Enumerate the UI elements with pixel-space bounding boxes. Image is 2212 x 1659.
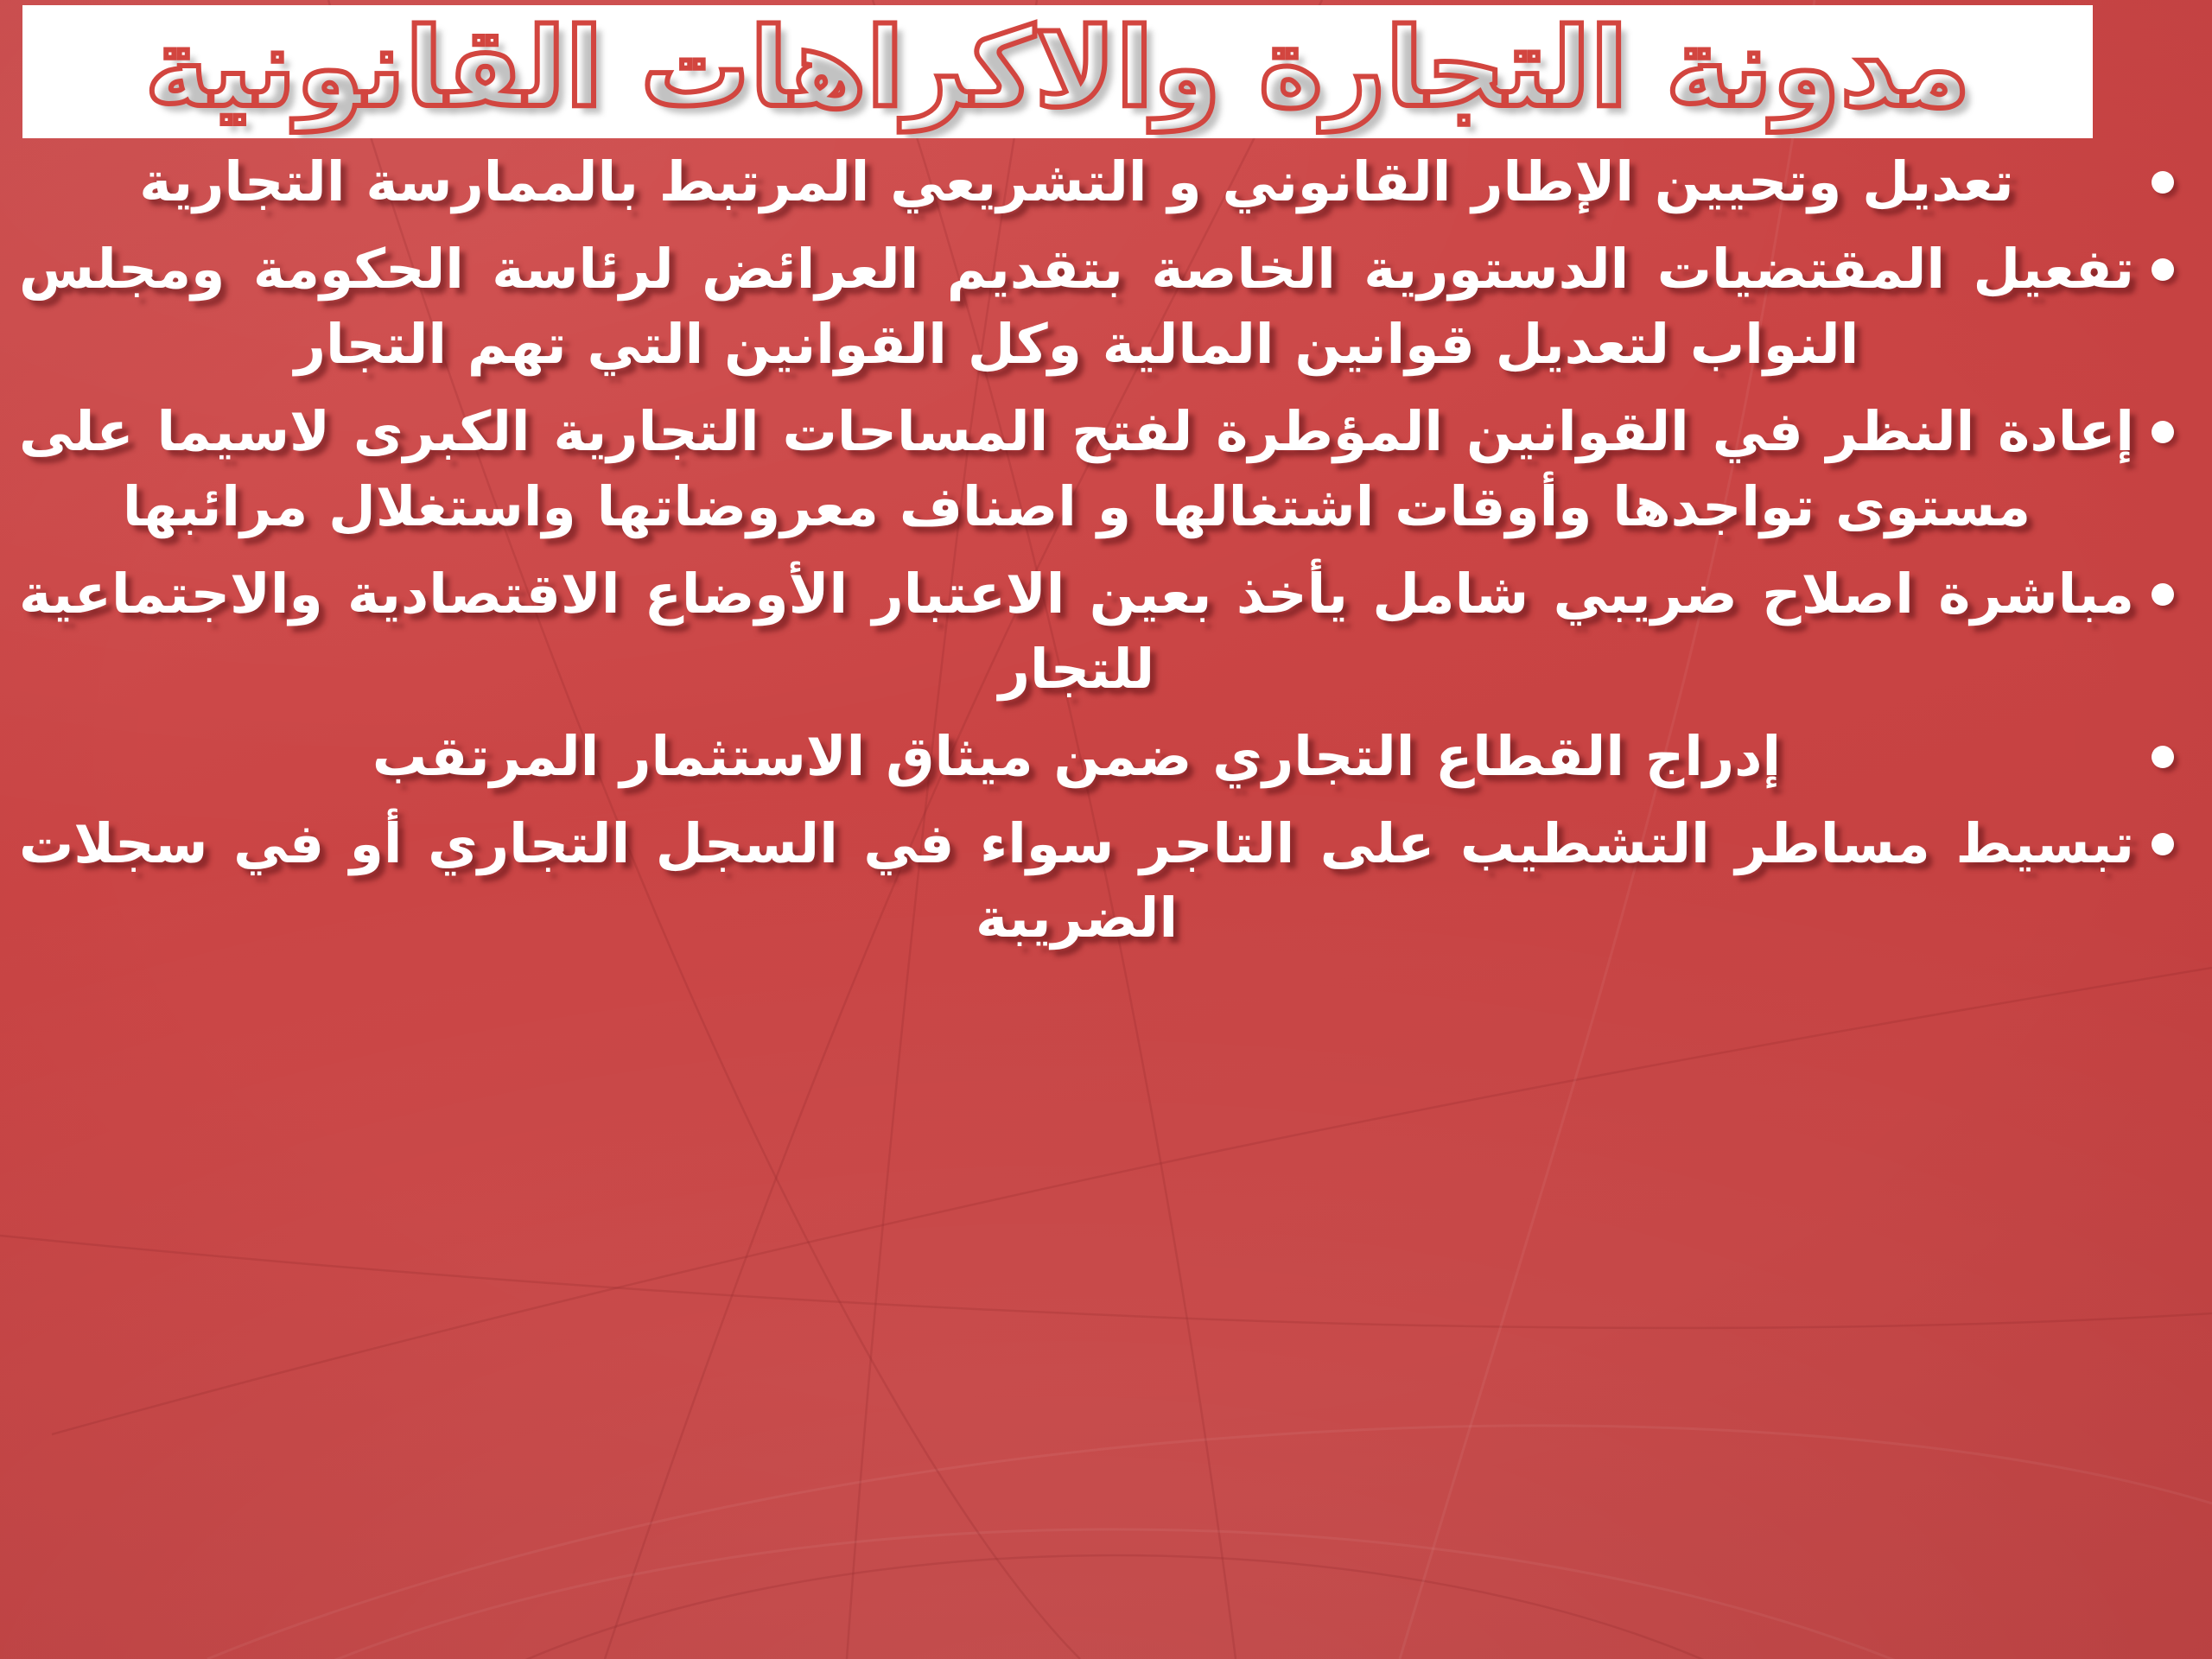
list-item-text: إعادة النظر في القوانين المؤطرة لفتح الم… xyxy=(19,395,2134,545)
list-item-text: مباشرة اصلاح ضريبي شامل يأخذ بعين الاعتب… xyxy=(19,557,2134,708)
list-item: مباشرة اصلاح ضريبي شامل يأخذ بعين الاعتب… xyxy=(19,557,2183,708)
bullet-marker xyxy=(2143,421,2183,443)
slide-root: مدونة التجارة والاكراهات القانونية تعديل… xyxy=(0,0,2212,1659)
list-item-text: تفعيل المقتضيات الدستورية الخاصة بتقديم … xyxy=(19,232,2134,383)
bullet-dot-icon xyxy=(2152,583,2174,606)
list-item: تبسيط مساطر التشطيب على التاجر سواء في ا… xyxy=(19,807,2183,957)
list-item: تعديل وتحيين الإطار القانوني و التشريعي … xyxy=(19,145,2183,220)
page-title: مدونة التجارة والاكراهات القانونية xyxy=(145,14,1971,123)
list-item: تفعيل المقتضيات الدستورية الخاصة بتقديم … xyxy=(19,232,2183,383)
bullet-marker xyxy=(2143,746,2183,768)
list-item-text: تبسيط مساطر التشطيب على التاجر سواء في ا… xyxy=(19,807,2134,957)
bullet-dot-icon xyxy=(2152,833,2174,855)
bullet-dot-icon xyxy=(2152,171,2174,194)
list-item-text: إدراج القطاع التجاري ضمن ميثاق الاستثمار… xyxy=(19,720,2134,795)
bullet-marker xyxy=(2143,833,2183,855)
title-banner: مدونة التجارة والاكراهات القانونية xyxy=(22,5,2093,138)
bullet-list: تعديل وتحيين الإطار القانوني و التشريعي … xyxy=(0,145,2212,1659)
list-item: إعادة النظر في القوانين المؤطرة لفتح الم… xyxy=(19,395,2183,545)
bullet-dot-icon xyxy=(2152,258,2174,281)
list-item-text: تعديل وتحيين الإطار القانوني و التشريعي … xyxy=(19,145,2134,220)
bullet-marker xyxy=(2143,258,2183,281)
bullet-marker xyxy=(2143,171,2183,194)
bullet-marker xyxy=(2143,583,2183,606)
bullet-dot-icon xyxy=(2152,421,2174,443)
bullet-dot-icon xyxy=(2152,746,2174,768)
list-item: إدراج القطاع التجاري ضمن ميثاق الاستثمار… xyxy=(19,720,2183,795)
